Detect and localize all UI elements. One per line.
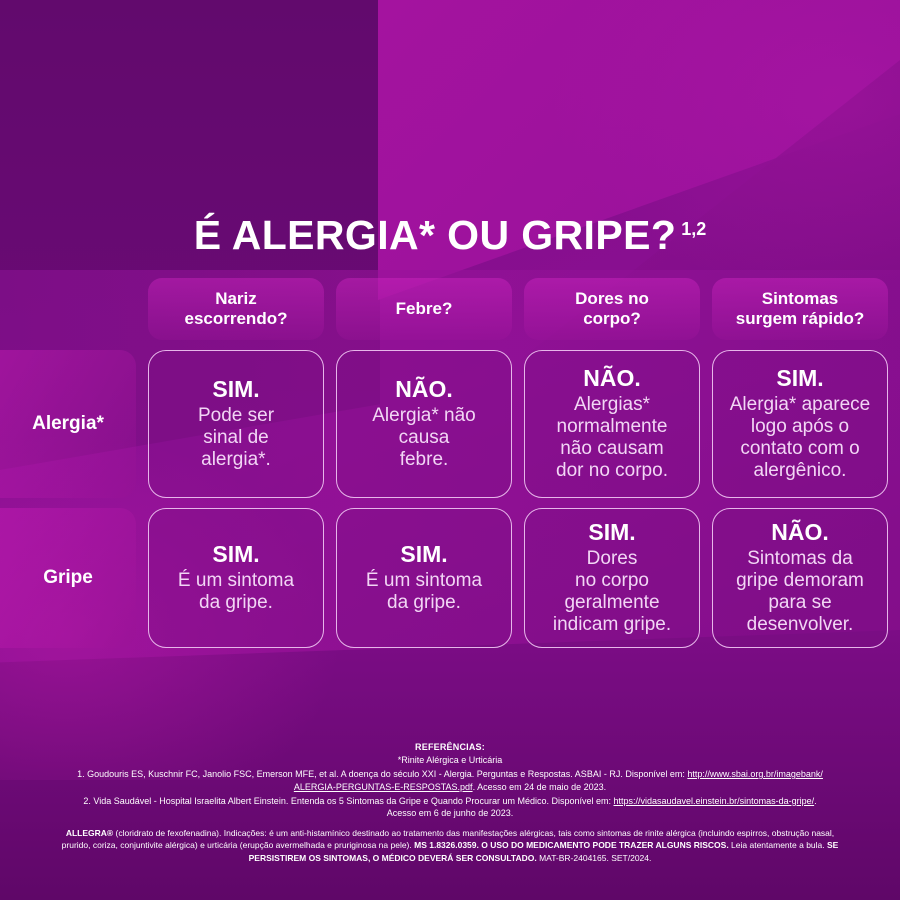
disclaimer-leaflet: Leia atentamente a bula. bbox=[729, 840, 827, 850]
cell-answer: NÃO. bbox=[583, 366, 641, 391]
reference-1-access: . Acesso em 24 de maio de 2023. bbox=[473, 782, 607, 792]
reference-item-2: 2. Vida Saudável - Hospital Israelita Al… bbox=[26, 795, 874, 821]
cell-description: Alergia* aparecelogo após ocontato com o… bbox=[730, 394, 870, 482]
cell-description: É um sintomada gripe. bbox=[178, 570, 294, 614]
reference-2-text: 2. Vida Saudável - Hospital Israelita Al… bbox=[83, 796, 613, 806]
cell-answer: NÃO. bbox=[771, 520, 829, 545]
column-header-sintomas: Sintomassurgem rápido? bbox=[712, 278, 888, 340]
cell-description: Sintomas dagripe demorampara sedesenvolv… bbox=[736, 548, 864, 636]
reference-item-1: 1. Goudouris ES, Kuschnir FC, Janolio FS… bbox=[26, 768, 874, 794]
reference-1-link-a[interactable]: http://www.sbai.org.br/imagebank/ bbox=[687, 769, 823, 779]
references-title: REFERÊNCIAS: bbox=[26, 742, 874, 752]
reference-1-text: 1. Goudouris ES, Kuschnir FC, Janolio FS… bbox=[77, 769, 687, 779]
product-disclaimer: ALLEGRA® (cloridrato de fexofenadina). I… bbox=[26, 827, 874, 864]
cell-gripe-febre: SIM. É um sintomada gripe. bbox=[336, 508, 512, 648]
cell-description: Alergia* nãocausafebre. bbox=[372, 405, 476, 471]
reference-2-period: . bbox=[814, 796, 817, 806]
table-corner-spacer bbox=[18, 278, 136, 340]
cell-answer: SIM. bbox=[588, 520, 635, 545]
cell-alergia-dores: NÃO. Alergias*normalmentenão causamdor n… bbox=[524, 350, 700, 498]
row-label-alergia: Alergia* bbox=[0, 350, 136, 498]
column-header-dores: Dores nocorpo? bbox=[524, 278, 700, 340]
page-title-text: É ALERGIA* OU GRIPE? bbox=[194, 212, 677, 258]
cell-answer: NÃO. bbox=[395, 377, 453, 402]
cell-description: Pode sersinal dealergia*. bbox=[198, 405, 274, 471]
column-header-nariz: Narizescorrendo? bbox=[148, 278, 324, 340]
cell-description: Alergias*normalmentenão causamdor no cor… bbox=[556, 394, 668, 482]
column-header-febre: Febre? bbox=[336, 278, 512, 340]
disclaimer-brand: ALLEGRA® bbox=[66, 828, 113, 838]
cell-gripe-sintomas: NÃO. Sintomas dagripe demorampara sedese… bbox=[712, 508, 888, 648]
asterisk-note: *Rinite Alérgica e Urticária bbox=[26, 755, 874, 765]
cell-answer: SIM. bbox=[776, 366, 823, 391]
disclaimer-material-code: MAT-BR-2404165. SET/2024. bbox=[537, 853, 652, 863]
row-label-gripe: Gripe bbox=[0, 508, 136, 648]
cell-answer: SIM. bbox=[400, 542, 447, 567]
cell-alergia-nariz: SIM. Pode sersinal dealergia*. bbox=[148, 350, 324, 498]
comparison-table: Narizescorrendo? Febre? Dores nocorpo? S… bbox=[0, 278, 900, 648]
cell-answer: SIM. bbox=[212, 542, 259, 567]
reference-2-access: Acesso em 6 de junho de 2023. bbox=[387, 808, 514, 818]
cell-description: É um sintomada gripe. bbox=[366, 570, 482, 614]
cell-answer: SIM. bbox=[212, 377, 259, 402]
cell-gripe-dores: SIM. Doresno corpogeralmenteindicam grip… bbox=[524, 508, 700, 648]
footer: REFERÊNCIAS: *Rinite Alérgica e Urticári… bbox=[0, 742, 900, 864]
title-area: É ALERGIA* OU GRIPE?1,2 bbox=[0, 0, 900, 284]
page-title-superscript: 1,2 bbox=[681, 219, 706, 239]
cell-description: Doresno corpogeralmenteindicam gripe. bbox=[553, 548, 671, 636]
disclaimer-warning-registration: MS 1.8326.0359. O USO DO MEDICAMENTO POD… bbox=[414, 840, 729, 850]
cell-gripe-nariz: SIM. É um sintomada gripe. bbox=[148, 508, 324, 648]
cell-alergia-sintomas: SIM. Alergia* aparecelogo após ocontato … bbox=[712, 350, 888, 498]
reference-1-link-b[interactable]: ALERGIA-PERGUNTAS-E-RESPOSTAS.pdf bbox=[294, 782, 473, 792]
reference-2-link[interactable]: https://vidasaudavel.einstein.br/sintoma… bbox=[614, 796, 815, 806]
cell-alergia-febre: NÃO. Alergia* nãocausafebre. bbox=[336, 350, 512, 498]
infographic-poster: É ALERGIA* OU GRIPE?1,2 Narizescorrendo?… bbox=[0, 0, 900, 900]
page-title: É ALERGIA* OU GRIPE?1,2 bbox=[194, 215, 707, 256]
